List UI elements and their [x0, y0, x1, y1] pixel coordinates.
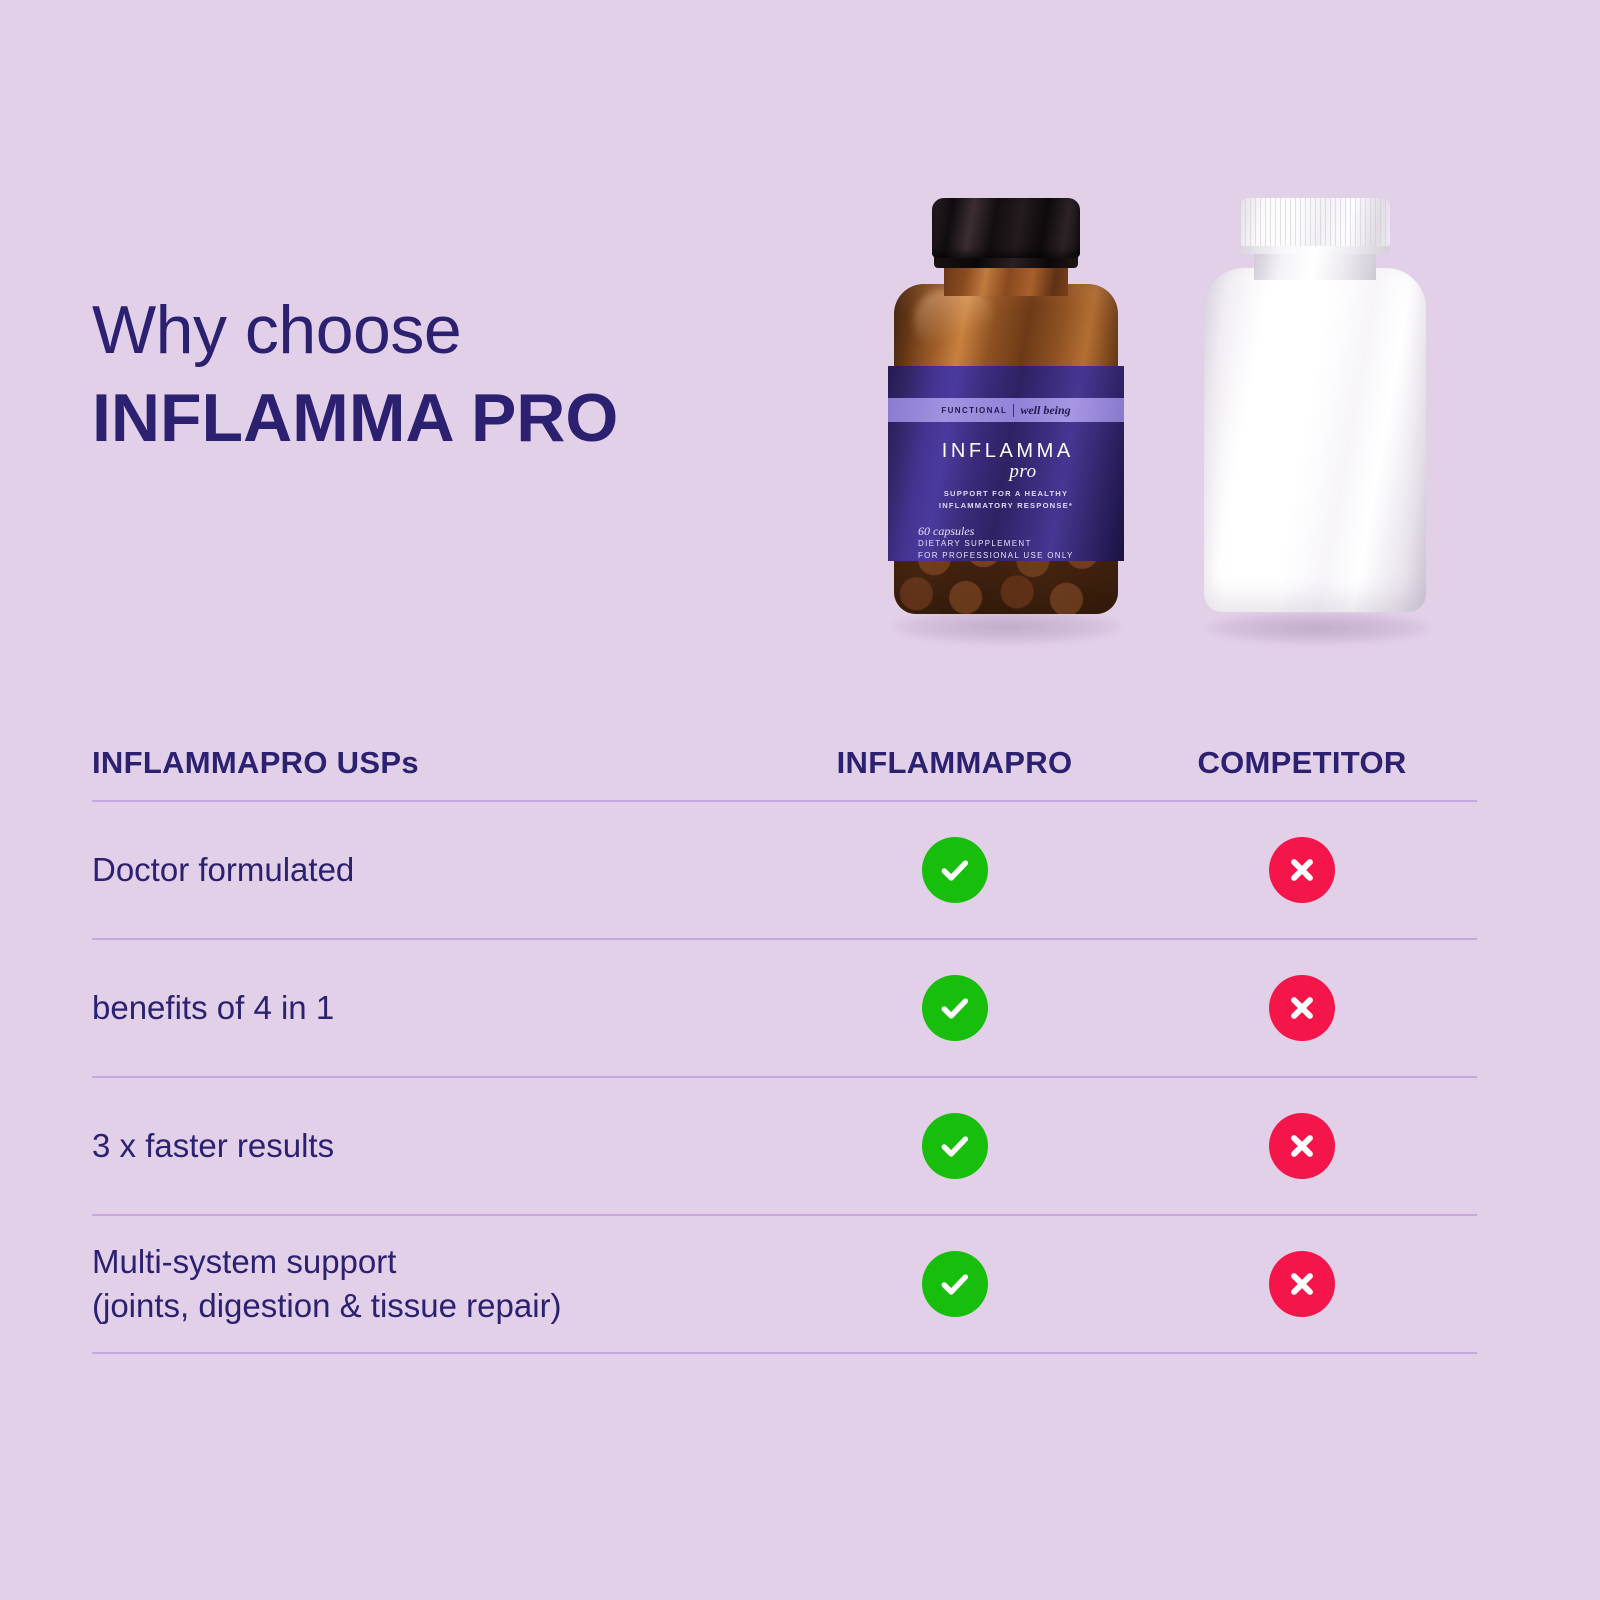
label-dietary-line2: FOR PROFESSIONAL USE ONLY	[918, 550, 1074, 561]
label-brand-sub: pro	[888, 461, 1124, 483]
table-row: Multi-system support (joints, digestion …	[92, 1216, 1477, 1352]
label-support-claim: SUPPORT FOR A HEALTHY INFLAMMATORY RESPO…	[888, 488, 1124, 512]
row-pro-cell	[782, 1251, 1127, 1317]
label-banner-functional: FUNCTIONAL	[941, 406, 1007, 415]
table-row: 3 x faster results	[92, 1078, 1477, 1214]
row-usp-cell: 3 x faster results	[92, 1124, 782, 1168]
label-banner-wellbeing: well being	[1020, 403, 1070, 418]
pro-bottle-label: FUNCTIONAL well being INFLAMMA pro SUPPO…	[888, 366, 1124, 561]
label-support-line1: SUPPORT FOR A HEALTHY	[888, 488, 1124, 500]
table-row: benefits of 4 in 1	[92, 940, 1477, 1076]
row-pro-cell	[782, 1113, 1127, 1179]
competitor-bottle-cap	[1240, 198, 1390, 246]
comparison-table: INFLAMMAPRO USPs INFLAMMAPRO COMPETITOR …	[92, 726, 1477, 1354]
row-usp-label: Doctor formulated	[92, 848, 782, 892]
row-usp-cell: Doctor formulated	[92, 848, 782, 892]
product-comparison-image: FUNCTIONAL well being INFLAMMA pro SUPPO…	[840, 170, 1520, 650]
competitor-bottle-neck	[1254, 250, 1376, 280]
label-dietary-info: DIETARY SUPPLEMENT FOR PROFESSIONAL USE …	[918, 538, 1074, 561]
check-circle-icon	[922, 837, 988, 903]
label-banner-separator	[1013, 404, 1014, 417]
cross-circle-icon	[1269, 975, 1335, 1041]
inflammapro-bottle: FUNCTIONAL well being INFLAMMA pro SUPPO…	[888, 198, 1123, 618]
label-support-line2: INFLAMMATORY RESPONSE*	[888, 500, 1124, 512]
cross-circle-icon	[1269, 837, 1335, 903]
competitor-bottle	[1200, 198, 1430, 618]
cross-circle-icon	[1269, 1251, 1335, 1317]
cross-circle-icon	[1269, 1113, 1335, 1179]
table-header-row: INFLAMMAPRO USPs INFLAMMAPRO COMPETITOR	[92, 726, 1477, 800]
row-usp-label: 3 x faster results	[92, 1124, 782, 1168]
promo-comparison-page: { "colors": { "background": "#e2cfe8", "…	[0, 0, 1600, 1600]
pro-bottle-gloss	[914, 290, 994, 350]
page-title-line1: Why choose	[92, 296, 618, 364]
column-header-pro-cell: INFLAMMAPRO	[782, 745, 1127, 781]
row-usp-label: Multi-system support	[92, 1240, 782, 1284]
row-pro-cell	[782, 837, 1127, 903]
row-usp-sublabel: (joints, digestion & tissue repair)	[92, 1284, 782, 1328]
competitor-bottle-body	[1204, 268, 1426, 612]
row-usp-cell: benefits of 4 in 1	[92, 986, 782, 1030]
page-title-line2: INFLAMMA PRO	[92, 384, 618, 452]
table-row: Doctor formulated	[92, 802, 1477, 938]
page-title: Why choose INFLAMMA PRO	[92, 296, 618, 452]
row-usp-cell: Multi-system support (joints, digestion …	[92, 1240, 782, 1327]
label-capsule-count: 60 capsules	[918, 524, 974, 539]
label-dietary-line1: DIETARY SUPPLEMENT	[918, 538, 1074, 550]
row-competitor-cell	[1127, 837, 1477, 903]
table-divider	[92, 1352, 1477, 1354]
column-header-pro: INFLAMMAPRO	[837, 745, 1073, 781]
row-competitor-cell	[1127, 975, 1477, 1041]
pro-bottle-cap	[932, 198, 1080, 258]
check-circle-icon	[922, 1251, 988, 1317]
row-usp-label: benefits of 4 in 1	[92, 986, 782, 1030]
label-brand-name: INFLAMMA	[888, 440, 1124, 463]
check-circle-icon	[922, 1113, 988, 1179]
column-header-competitor: COMPETITOR	[1197, 745, 1406, 781]
label-banner: FUNCTIONAL well being	[888, 398, 1124, 422]
row-competitor-cell	[1127, 1251, 1477, 1317]
column-header-usps: INFLAMMAPRO USPs	[92, 745, 419, 780]
row-pro-cell	[782, 975, 1127, 1041]
check-circle-icon	[922, 975, 988, 1041]
column-header-competitor-cell: COMPETITOR	[1127, 745, 1477, 781]
row-competitor-cell	[1127, 1113, 1477, 1179]
column-header-usps-cell: INFLAMMAPRO USPs	[92, 745, 782, 781]
